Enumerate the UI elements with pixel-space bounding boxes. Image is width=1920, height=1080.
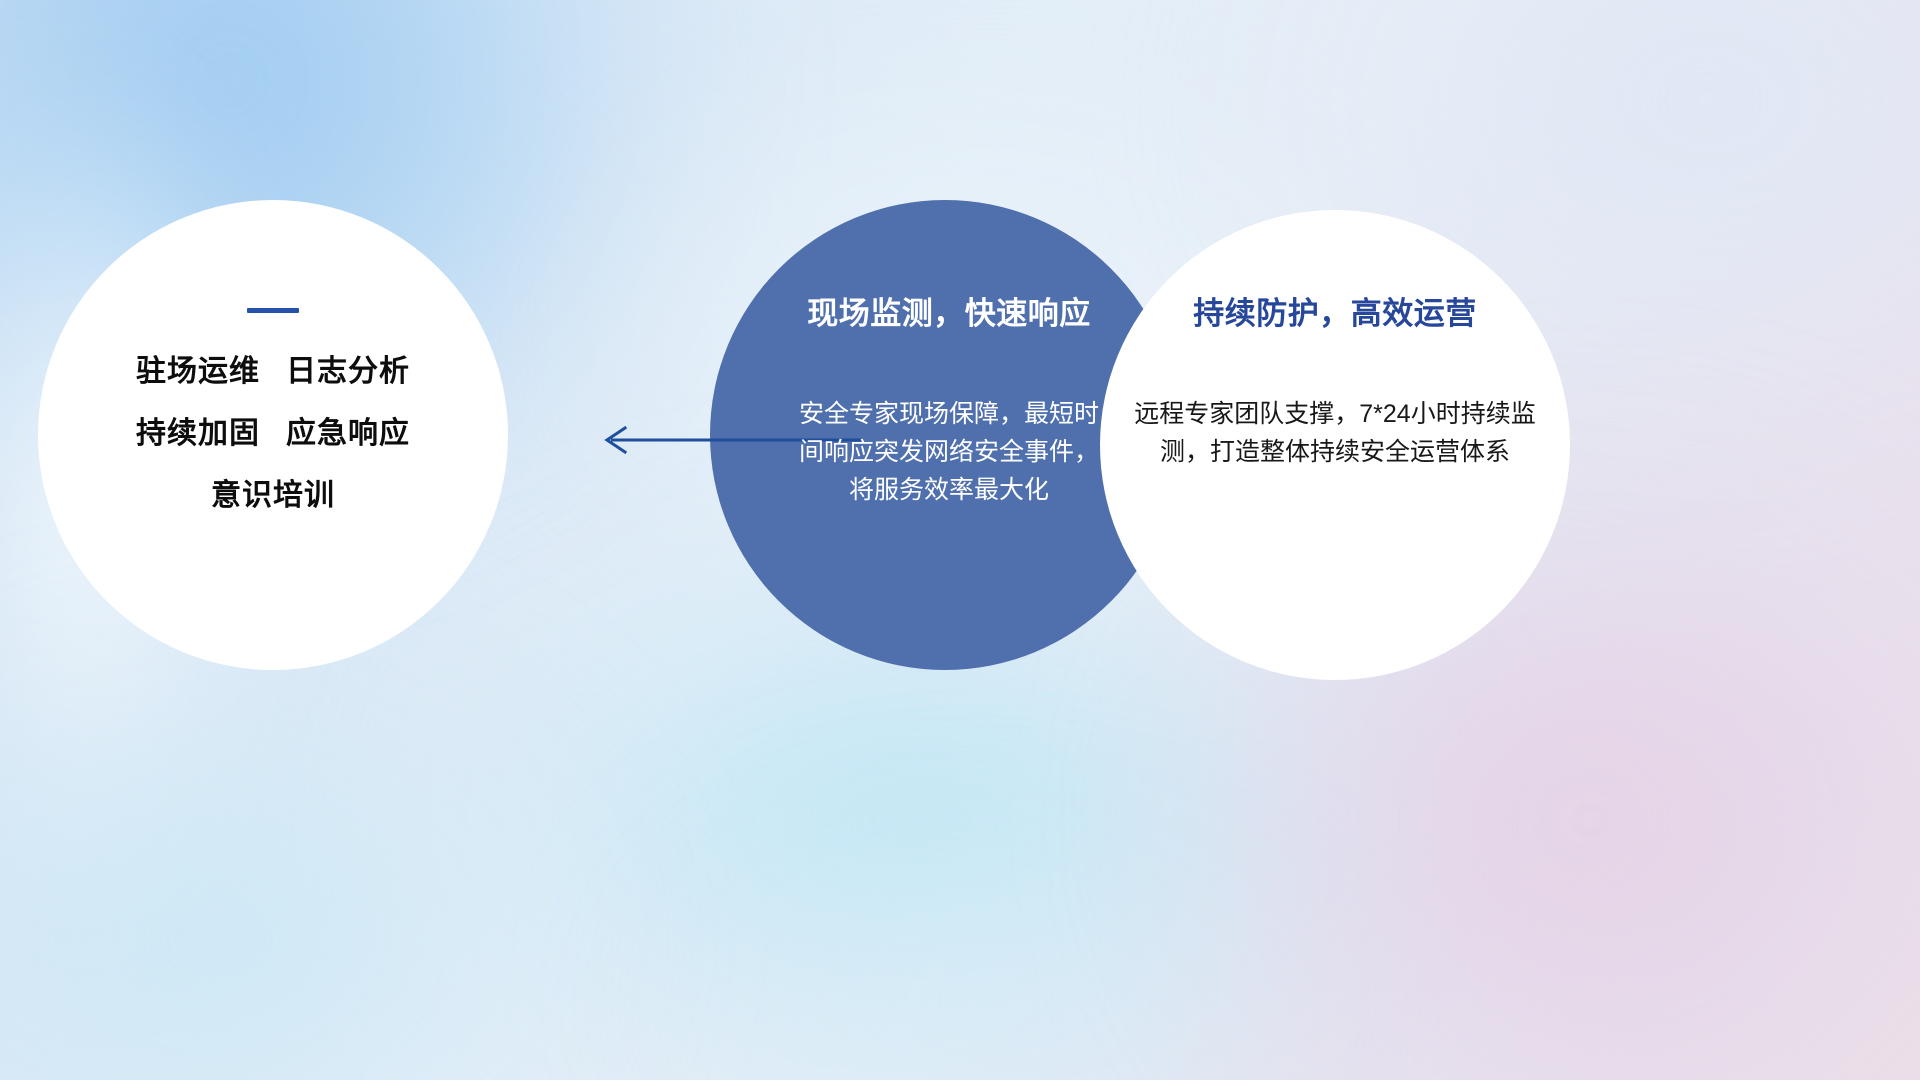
capability-label: 持续加固 xyxy=(136,417,260,450)
capability-label: 意识培训 xyxy=(211,479,335,512)
blue-divider-line xyxy=(247,308,299,313)
capability-row-1: 驻场运维日志分析 xyxy=(136,357,410,387)
capability-row-2: 持续加固应急响应 xyxy=(136,419,410,449)
slide-canvas: 驻场运维日志分析 持续加固应急响应 意识培训 现场监测，快速响应 安全专家现场保… xyxy=(0,0,1920,1080)
right-circle-body: 远程专家团队支撑，7*24小时持续监测，打造整体持续安全运营体系 xyxy=(1130,395,1540,471)
capability-label: 日志分析 xyxy=(286,355,410,388)
blue-circle-title: 现场监测，快速响应 xyxy=(807,288,1091,333)
right-circle-content: 持续防护，高效运营 远程专家团队支撑，7*24小时持续监测，打造整体持续安全运营… xyxy=(1100,210,1570,680)
blue-circle-body: 安全专家现场保障，最短时间响应突发网络安全事件，将服务效率最大化 xyxy=(799,395,1099,509)
right-circle-title: 持续防护，高效运营 xyxy=(1193,288,1477,333)
left-circle-content: 驻场运维日志分析 持续加固应急响应 意识培训 xyxy=(38,200,508,670)
capability-label: 驻场运维 xyxy=(136,355,260,388)
capability-label: 应急响应 xyxy=(286,417,410,450)
capability-row-3: 意识培训 xyxy=(211,481,335,511)
